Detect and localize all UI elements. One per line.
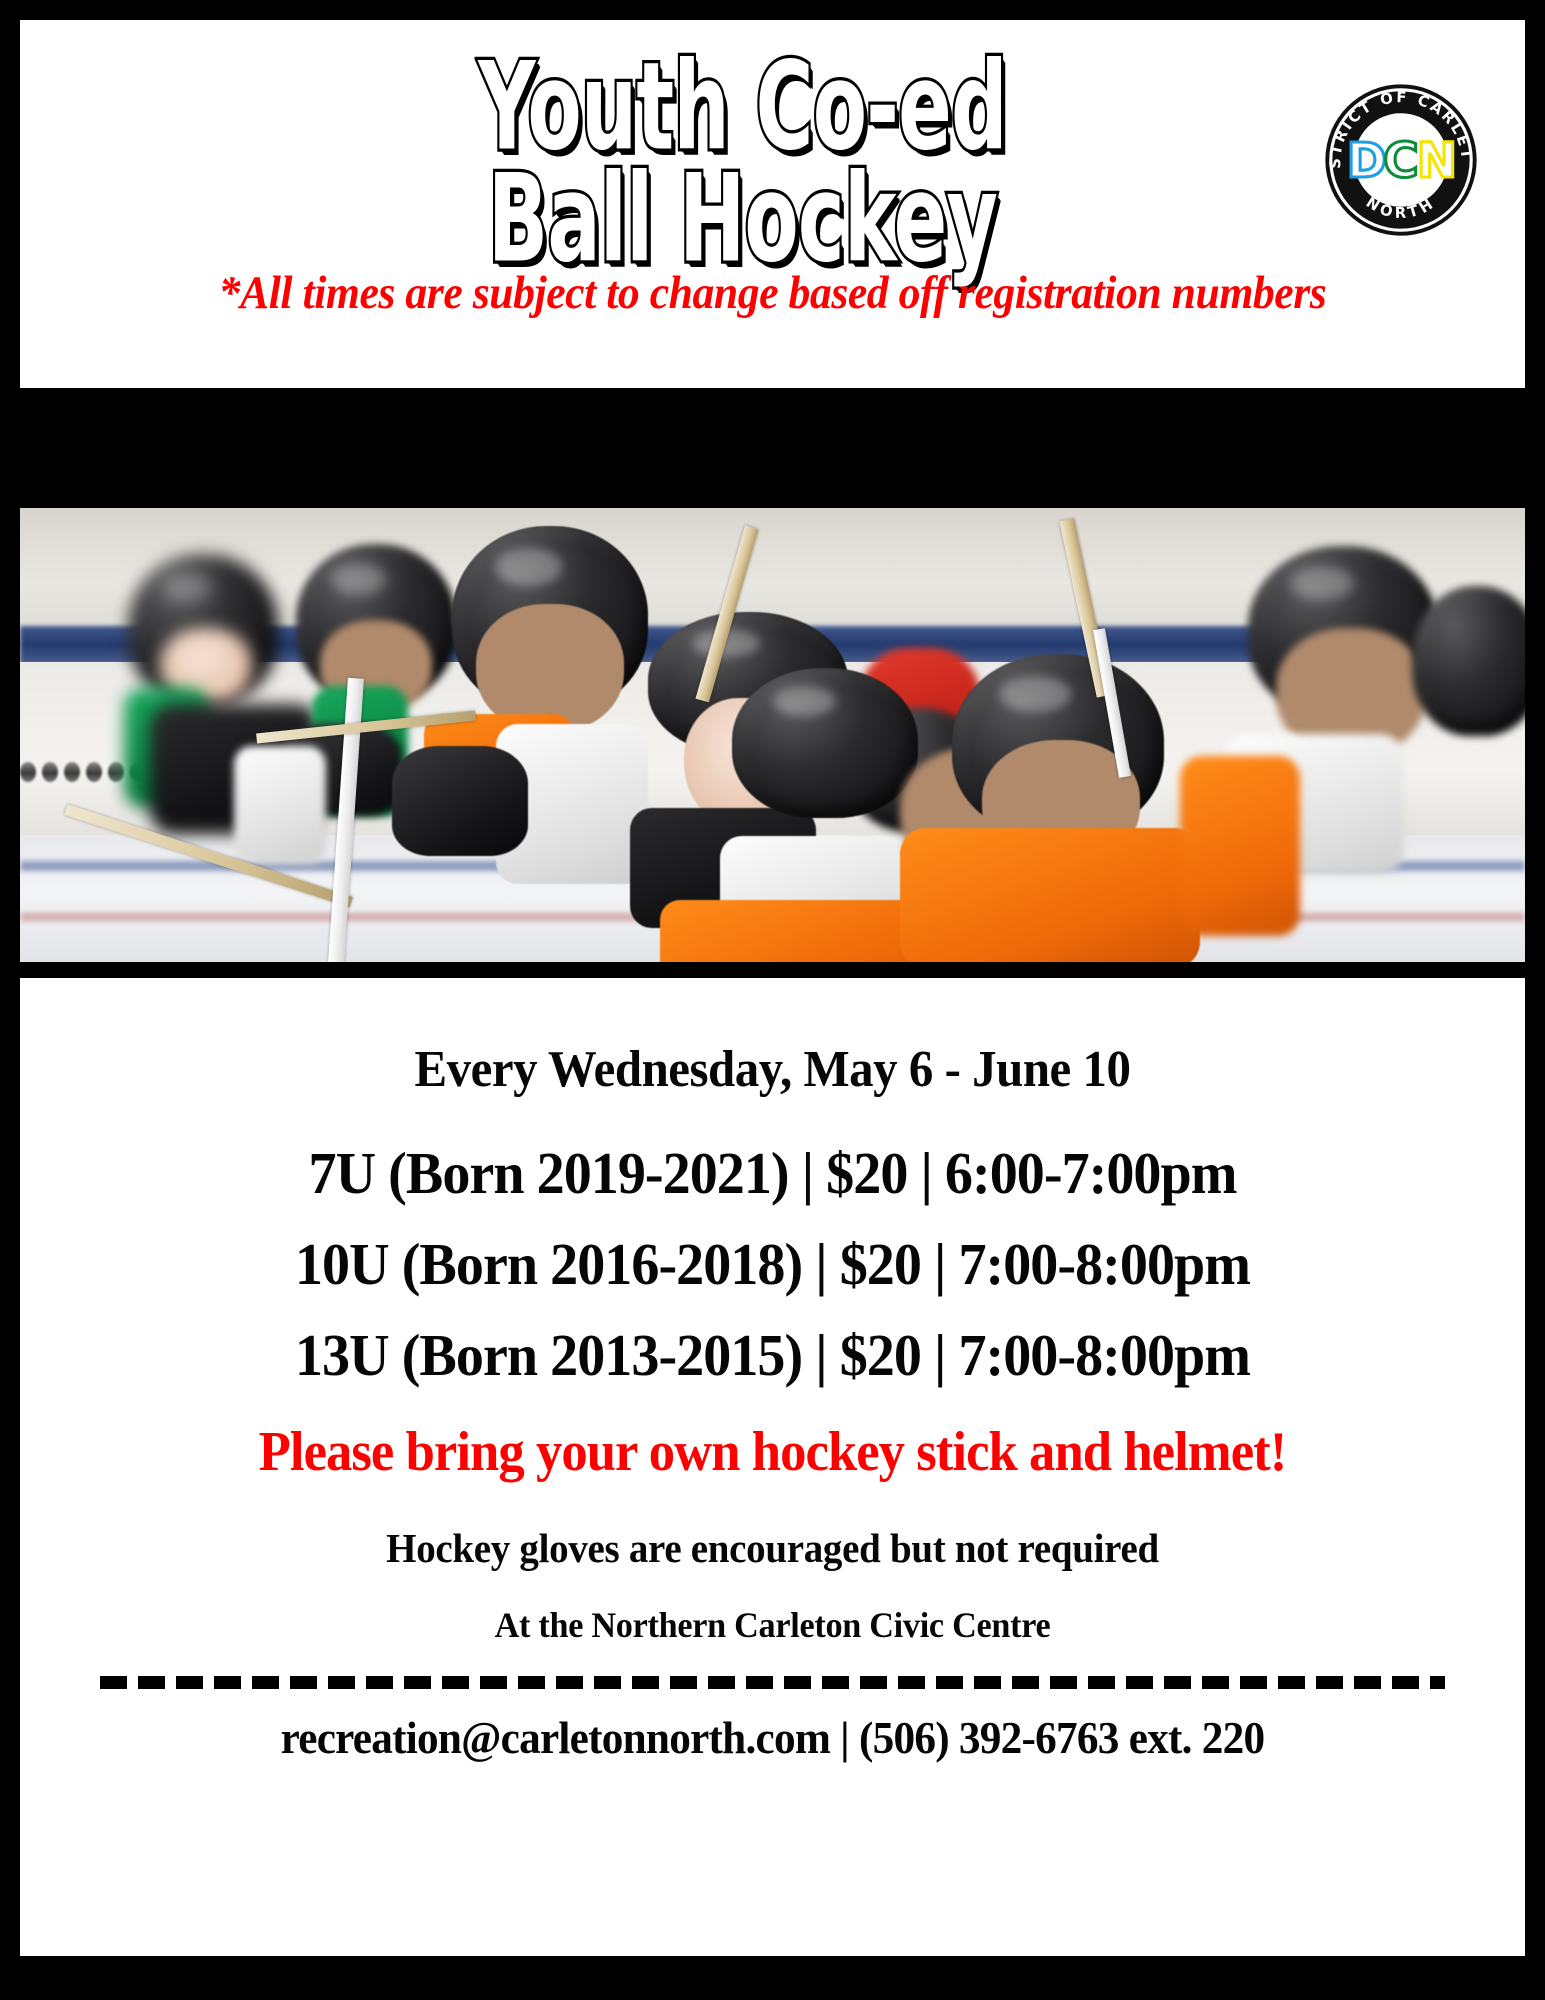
header-panel: Youth Co-ed Ball Hockey DISTRICT OF CARL… [20,20,1525,388]
logo-monogram: D C N [1347,133,1458,189]
schedule-row-13u: 13U (Born 2013-2015) | $20 | 7:00-8:00pm [58,1323,1488,1388]
poster-root: Youth Co-ed Ball Hockey DISTRICT OF CARL… [0,0,1545,2000]
logo-letter-d: D [1347,133,1387,189]
logo-letter-c: C [1383,133,1418,189]
schedule-row-7u: 7U (Born 2019-2021) | $20 | 6:00-7:00pm [58,1141,1488,1206]
schedule-disclaimer: *All times are subject to change based o… [73,266,1473,321]
venue-notice: At the Northern Carleton Civic Centre [58,1604,1488,1646]
date-headline: Every Wednesday, May 6 - June 10 [65,1040,1480,1099]
poster-title: Youth Co-ed Ball Hockey [20,48,1525,250]
gloves-notice: Hockey gloves are encouraged but not req… [58,1524,1488,1572]
equipment-notice: Please bring your own hockey stick and h… [65,1422,1480,1482]
hero-photo [20,508,1525,962]
dcn-logo: DISTRICT OF CARLETON NORTH D C N [1323,82,1479,238]
logo-letter-n: N [1417,133,1457,189]
title-line-2: Ball Hockey [121,160,1364,279]
contact-info[interactable]: recreation@carletonnorth.com | (506) 392… [65,1711,1480,1764]
schedule-list: 7U (Born 2019-2021) | $20 | 6:00-7:00pm … [20,1141,1525,1388]
dashed-divider [100,1676,1445,1689]
schedule-row-10u: 10U (Born 2016-2018) | $20 | 7:00-8:00pm [58,1232,1488,1297]
details-panel: Every Wednesday, May 6 - June 10 7U (Bor… [20,978,1525,1956]
